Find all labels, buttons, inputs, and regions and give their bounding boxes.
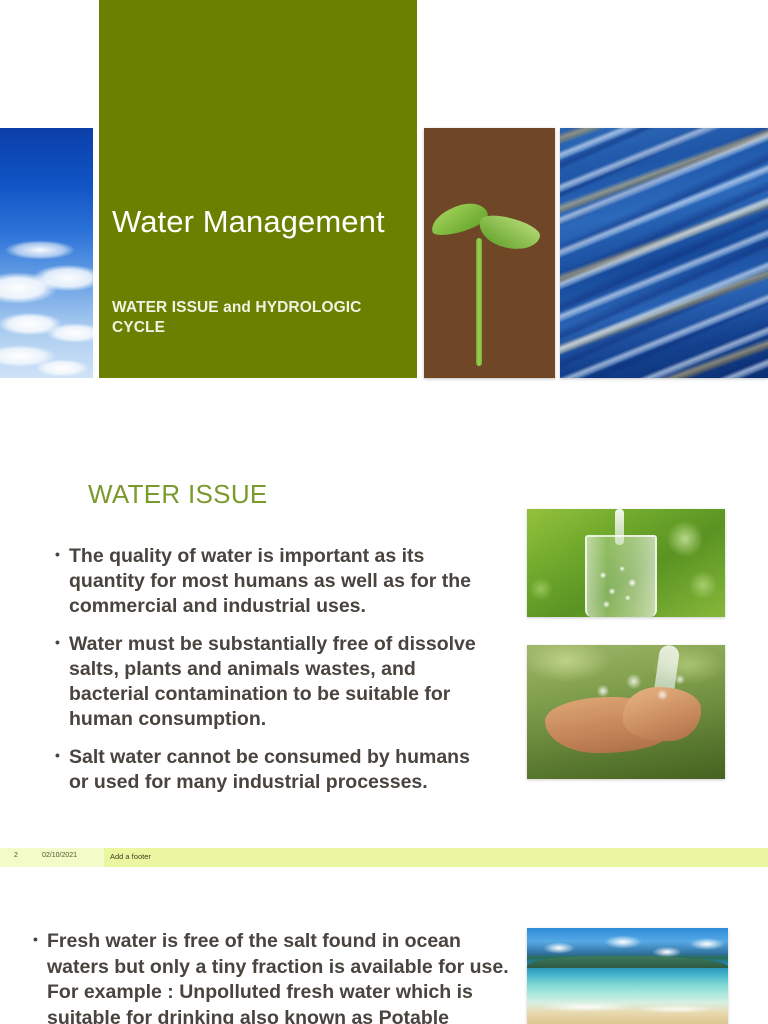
glass-of-water-pouring-image <box>527 509 725 617</box>
list-item-text: The quality of water is important as its… <box>69 544 487 619</box>
slide-number: 2 <box>14 852 18 859</box>
presentation-page: Water Management WATER ISSUE and HYDROLO… <box>0 0 768 1024</box>
hands-catching-water-image <box>527 645 725 779</box>
list-item: • Fresh water is free of the salt found … <box>33 929 513 1024</box>
list-item-text: Water must be substantially free of diss… <box>69 632 487 732</box>
beach-foam-shape <box>527 1000 728 1014</box>
bullet-dot-icon: • <box>33 929 47 1024</box>
sprout-stem-shape <box>476 238 482 366</box>
bullet-dot-icon: • <box>55 544 69 619</box>
list-item-text: Salt water cannot be consumed by humans … <box>69 745 487 795</box>
slide-fresh-water: • Fresh water is free of the salt found … <box>0 867 768 1024</box>
slide-title: Water Management WATER ISSUE and HYDROLO… <box>0 0 768 385</box>
potable-bold-tail: Potable <box>379 1007 449 1024</box>
list-item: • Water must be substantially free of di… <box>55 632 487 732</box>
page-subtitle: WATER ISSUE and HYDROLOGIC CYCLE <box>112 298 402 338</box>
water-splash-shape <box>581 667 691 715</box>
fresh-water-bold-lead: Fresh water <box>47 930 156 952</box>
glass-shape <box>585 535 657 617</box>
bullet-dot-icon: • <box>55 745 69 795</box>
slide-water-issue: WATER ISSUE • The quality of water is im… <box>0 385 768 848</box>
water-bubbles-shape <box>593 559 649 613</box>
section-heading: WATER ISSUE <box>88 479 268 510</box>
tropical-beach-turquoise-water-image <box>527 928 728 1024</box>
bullet-list: • The quality of water is important as i… <box>55 544 487 808</box>
slide-footer-bar: 2 02/10/2021 Add a footer <box>0 848 768 867</box>
ocean-water-ripples-image <box>560 128 768 378</box>
title-block: Water Management WATER ISSUE and HYDROLO… <box>99 0 417 378</box>
page-title: Water Management <box>112 202 412 243</box>
bullet-dot-icon: • <box>55 632 69 732</box>
list-item: • The quality of water is important as i… <box>55 544 487 619</box>
footer-date: 02/10/2021 <box>42 852 77 859</box>
blue-sky-clouds-image <box>0 128 93 378</box>
sprout-leaf-right-shape <box>476 212 543 254</box>
list-item: • Salt water cannot be consumed by human… <box>55 745 487 795</box>
seedling-sprout-soil-image <box>424 128 555 378</box>
list-item-text: Fresh water is free of the salt found in… <box>47 929 513 1024</box>
footer-placeholder-text[interactable]: Add a footer <box>110 852 151 861</box>
